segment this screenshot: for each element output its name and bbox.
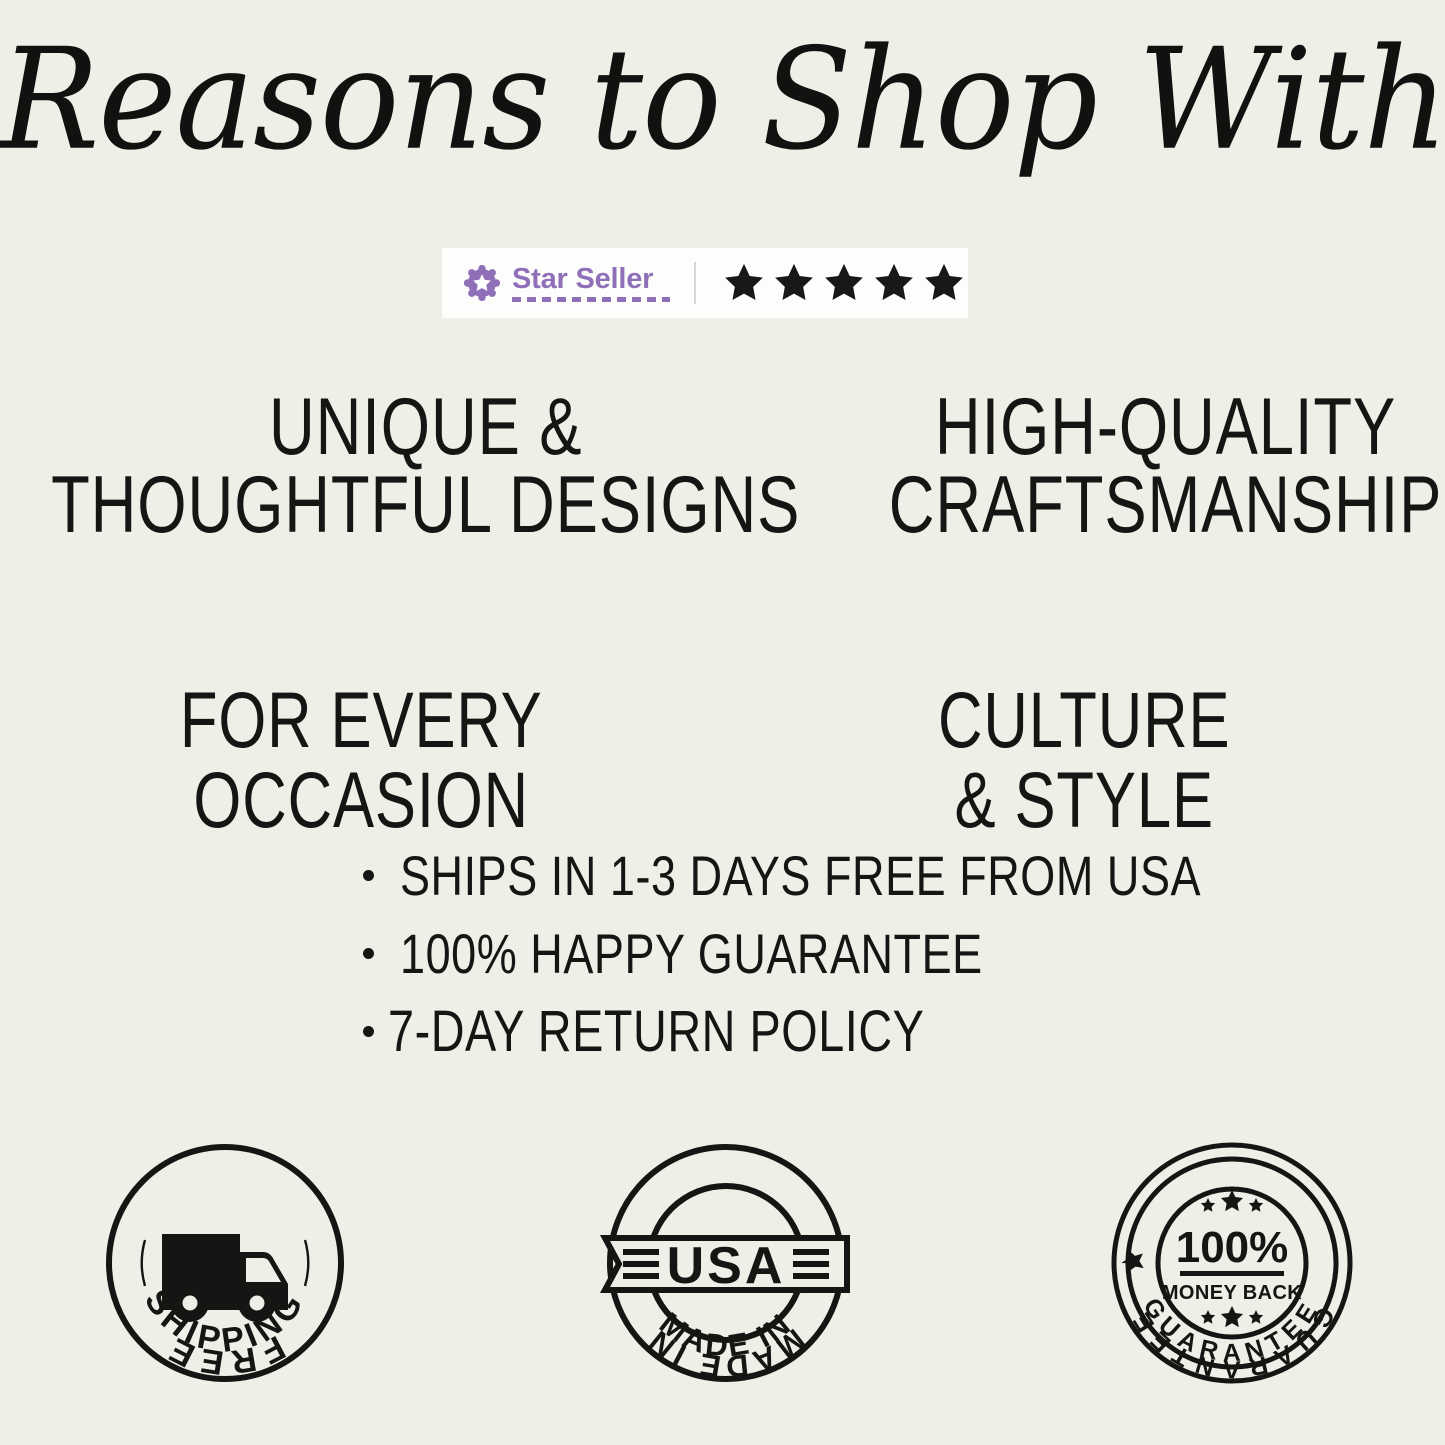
feature-line: OCCASION bbox=[43, 755, 679, 845]
star-icon bbox=[772, 261, 816, 305]
feature-culture-and-style: CULTURE & STYLE bbox=[723, 680, 1445, 840]
star-icon bbox=[1249, 1198, 1263, 1212]
star-rosette-icon bbox=[464, 265, 500, 301]
delivery-truck-icon bbox=[162, 1234, 288, 1322]
promo-graphic: Reasons to Shop With Us Star Seller bbox=[0, 0, 1445, 1445]
star-seller-text-block: Star Seller bbox=[512, 264, 670, 302]
feature-unique-thoughtful-designs: UNIQUE & THOUGHTFUL DESIGNS bbox=[0, 388, 851, 544]
guarantee-divider bbox=[1180, 1271, 1284, 1276]
guarantee-percent: 100% bbox=[1176, 1223, 1289, 1272]
star-icon bbox=[922, 261, 966, 305]
feature-line: HIGH-QUALITY bbox=[889, 383, 1443, 470]
page-title-wrapper: Reasons to Shop With Us bbox=[0, 34, 1445, 214]
feature-high-quality-craftsmanship: HIGH-QUALITY CRAFTSMANSHIP bbox=[851, 388, 1445, 544]
feature-line: CRAFTSMANSHIP bbox=[889, 461, 1443, 548]
feature-line: & STYLE bbox=[766, 755, 1402, 845]
trust-seals: FREE SHIPPING bbox=[0, 1138, 1445, 1398]
list-item-label: 100% HAPPY GUARANTEE bbox=[400, 923, 983, 986]
star-seller-label: Star Seller bbox=[512, 264, 670, 294]
star-icon bbox=[1221, 1190, 1243, 1211]
features-row-1: UNIQUE & THOUGHTFUL DESIGNS HIGH-QUALITY… bbox=[0, 388, 1445, 544]
made-in-usa-seal: MADE IN MADE IN USA bbox=[597, 1134, 855, 1392]
star-icon bbox=[822, 261, 866, 305]
list-item: SHIPS IN 1-3 DAYS FREE FROM USA bbox=[363, 848, 1263, 904]
made-in-usa-banner-text: USA bbox=[667, 1237, 786, 1295]
money-back-guarantee-seal: GUARANTEE GUARANTEE bbox=[1107, 1138, 1357, 1388]
star-icon bbox=[1121, 1250, 1143, 1271]
features-row-2: FOR EVERY OCCASION CULTURE & STYLE bbox=[0, 680, 1445, 840]
feature-line: FOR EVERY bbox=[43, 675, 679, 765]
list-item: 100% HAPPY GUARANTEE bbox=[363, 926, 1263, 982]
star-icon bbox=[1201, 1198, 1215, 1212]
star-icon bbox=[872, 261, 916, 305]
star-icon bbox=[1201, 1310, 1215, 1324]
bullet-dot-icon bbox=[363, 870, 374, 881]
star-seller-badge: Star Seller bbox=[442, 248, 968, 318]
feature-line: UNIQUE & bbox=[51, 383, 800, 470]
star-icon bbox=[722, 261, 766, 305]
features-grid: UNIQUE & THOUGHTFUL DESIGNS HIGH-QUALITY… bbox=[0, 388, 1445, 840]
list-item-label: 7-DAY RETURN POLICY bbox=[388, 1001, 924, 1064]
bullet-dot-icon bbox=[363, 1026, 374, 1037]
star-icon bbox=[1221, 1306, 1243, 1327]
list-item: 7-DAY RETURN POLICY bbox=[363, 1004, 1263, 1060]
free-shipping-seal: FREE SHIPPING bbox=[100, 1138, 350, 1388]
guarantee-subtext: MONEY BACK bbox=[1162, 1282, 1302, 1304]
star-seller-left: Star Seller bbox=[442, 248, 670, 318]
benefits-list: SHIPS IN 1-3 DAYS FREE FROM USA 100% HAP… bbox=[363, 848, 1263, 1082]
star-icon bbox=[1249, 1310, 1263, 1324]
feature-line: CULTURE bbox=[766, 675, 1402, 765]
list-item-label: SHIPS IN 1-3 DAYS FREE FROM USA bbox=[400, 845, 1201, 908]
star-seller-divider bbox=[694, 262, 696, 304]
guarantee-bottom-stars bbox=[1201, 1306, 1263, 1327]
feature-for-every-occasion: FOR EVERY OCCASION bbox=[0, 680, 723, 840]
bullet-dot-icon bbox=[363, 948, 374, 959]
page-title: Reasons to Shop With Us bbox=[0, 30, 1445, 170]
star-rating bbox=[722, 261, 966, 305]
feature-line: THOUGHTFUL DESIGNS bbox=[51, 461, 800, 548]
star-seller-dashed-underline bbox=[512, 297, 670, 302]
